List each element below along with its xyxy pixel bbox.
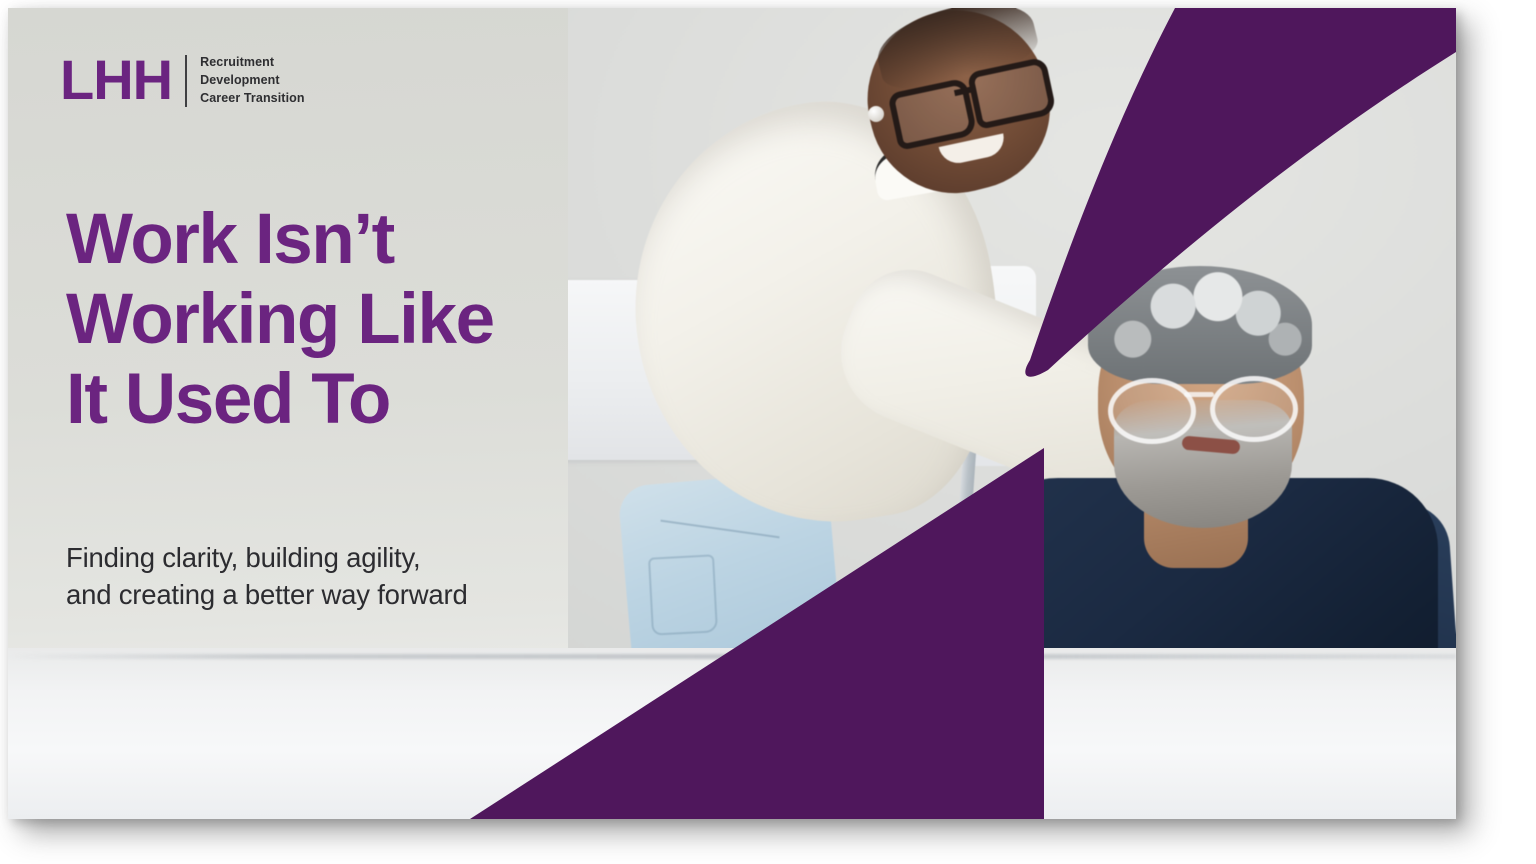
woman-earring [868, 106, 884, 122]
white-table-surface [8, 648, 1456, 819]
logo-tagline: Recruitment Development Career Transitio… [200, 54, 305, 105]
man-glasses-right-lens [1210, 376, 1298, 442]
logo-tagline-line: Development [200, 73, 305, 88]
lhh-logo[interactable]: LHH Recruitment Development Career Trans… [60, 53, 305, 107]
man-glasses-bridge [1184, 392, 1214, 397]
headline-line: Working Like [66, 280, 626, 360]
slide-headline: Work Isn’t Working Like It Used To [66, 200, 626, 441]
headline-line: Work Isn’t [66, 200, 626, 280]
logo-tagline-line: Recruitment [200, 55, 305, 70]
logo-tagline-line: Career Transition [200, 91, 305, 106]
logo-divider [185, 55, 187, 107]
slide-subheadline: Finding clarity, building agility, and c… [66, 539, 646, 614]
page-canvas: LHH Recruitment Development Career Trans… [0, 0, 1536, 864]
subheadline-line: and creating a better way forward [66, 576, 646, 613]
white-table-edge [8, 654, 1456, 659]
man-glasses-left-lens [1108, 378, 1196, 444]
man-hair [1088, 266, 1312, 384]
man-glasses-icon [1108, 376, 1304, 434]
presentation-slide: LHH Recruitment Development Career Trans… [8, 8, 1456, 819]
woman-jeans-pocket [648, 554, 718, 635]
subheadline-line: Finding clarity, building agility, [66, 539, 646, 576]
logo-wordmark: LHH [60, 54, 172, 106]
headline-line: It Used To [66, 360, 626, 440]
